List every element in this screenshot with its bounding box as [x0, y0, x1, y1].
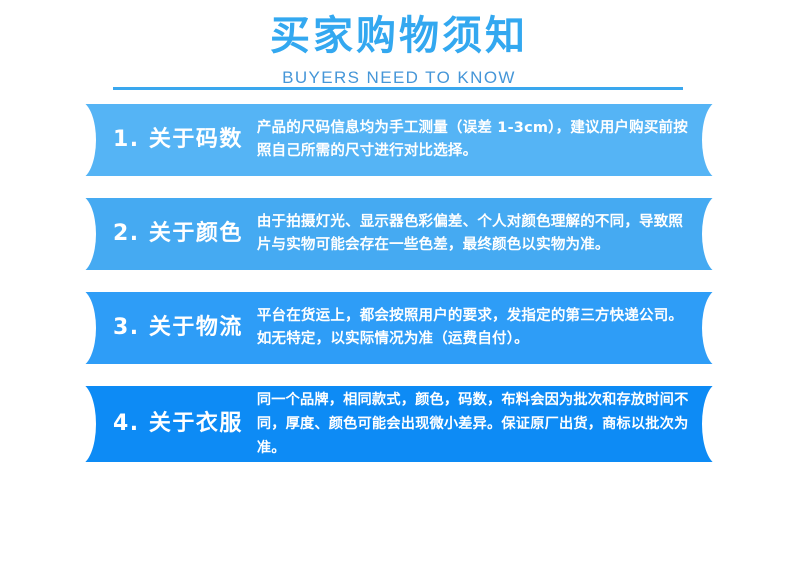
banner-description: 平台在货运上，都会按照用户的要求，发指定的第三方快递公司。如无特定，以实际情况为…	[257, 305, 689, 351]
page-header: 买家购物须知 BUYERS NEED TO KNOW	[0, 0, 798, 89]
banner-heading: 3. 关于物流	[113, 314, 243, 342]
banner-heading: 1. 关于码数	[113, 126, 243, 154]
banner-content: 1. 关于码数 产品的尺码信息均为手工测量（误差 1-3cm），建议用户购买前按…	[63, 104, 735, 176]
banner-heading: 4. 关于衣服	[113, 410, 243, 438]
notice-banner: 3. 关于物流 平台在货运上，都会按照用户的要求，发指定的第三方快递公司。如无特…	[63, 292, 735, 364]
banner-content: 2. 关于颜色 由于拍摄灯光、显示器色彩偏差、个人对颜色理解的不同，导致照片与实…	[63, 198, 735, 270]
banner-description: 同一个品牌，相同款式，颜色，码数，布料会因为批次和存放时间不同，厚度、颜色可能会…	[257, 388, 689, 460]
page-subtitle: BUYERS NEED TO KNOW	[0, 61, 798, 89]
notice-banner: 2. 关于颜色 由于拍摄灯光、显示器色彩偏差、个人对颜色理解的不同，导致照片与实…	[63, 198, 735, 270]
banner-content: 4. 关于衣服 同一个品牌，相同款式，颜色，码数，布料会因为批次和存放时间不同，…	[63, 386, 735, 462]
buyers-notice-page: 买家购物须知 BUYERS NEED TO KNOW 1. 关于码数 产品的尺码…	[0, 0, 798, 566]
banner-heading: 2. 关于颜色	[113, 220, 243, 248]
page-title: 买家购物须知	[0, 0, 798, 61]
banner-content: 3. 关于物流 平台在货运上，都会按照用户的要求，发指定的第三方快递公司。如无特…	[63, 292, 735, 364]
banner-description: 产品的尺码信息均为手工测量（误差 1-3cm），建议用户购买前按照自己所需的尺寸…	[257, 117, 689, 163]
notice-banner: 4. 关于衣服 同一个品牌，相同款式，颜色，码数，布料会因为批次和存放时间不同，…	[63, 386, 735, 462]
banner-description: 由于拍摄灯光、显示器色彩偏差、个人对颜色理解的不同，导致照片与实物可能会存在一些…	[257, 211, 689, 257]
header-divider	[113, 87, 683, 90]
notice-banner-list: 1. 关于码数 产品的尺码信息均为手工测量（误差 1-3cm），建议用户购买前按…	[0, 104, 798, 484]
notice-banner: 1. 关于码数 产品的尺码信息均为手工测量（误差 1-3cm），建议用户购买前按…	[63, 104, 735, 176]
